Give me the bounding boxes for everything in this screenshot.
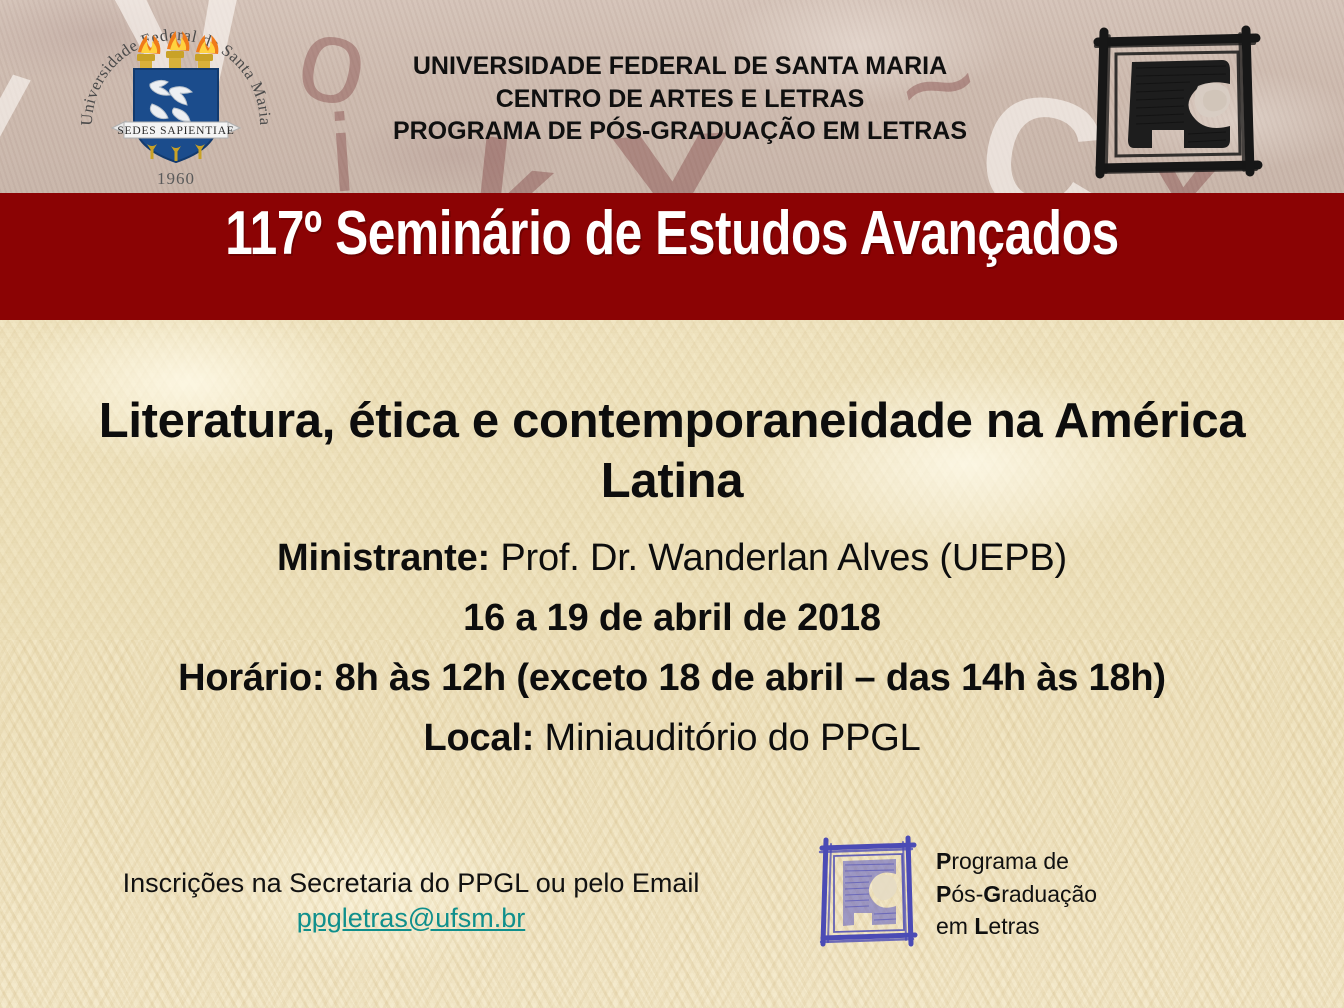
ministrante-label: Ministrante: (277, 537, 490, 579)
poster-root: V o i k X C ~ / x Universidade Federal d… (0, 0, 1344, 1008)
svg-text:1960: 1960 (157, 169, 195, 188)
svg-text:SEDES SAPIENTIAE: SEDES SAPIENTIAE (117, 125, 234, 137)
ppgl-l3-bold: L (974, 913, 988, 939)
institution-header: UNIVERSIDADE FEDERAL DE SANTA MARIA CENT… (300, 50, 1060, 148)
local-value: Miniauditório do PPGL (534, 717, 920, 759)
ppgl-l2-bold: P (936, 881, 951, 907)
ppgl-l1-bold: P (936, 848, 951, 874)
ministrante-value: Prof. Dr. Wanderlan Alves (UEPB) (490, 537, 1067, 579)
meta-line-local: Local: Miniauditório do PPGL (22, 708, 1322, 768)
ppgl-l3-rest: etras (988, 913, 1039, 939)
ppgl-l2-rest: ós- (951, 881, 983, 907)
registration-info: Inscrições na Secretaria do PPGL ou pelo… (96, 866, 726, 935)
ppgl-l2-bold2: G (983, 881, 1001, 907)
email-link[interactable]: ppgletras@ufsm.br (297, 903, 526, 933)
seminar-title: 117º Seminário de Estudos Avançados (134, 203, 1209, 265)
institution-line-3: PROGRAMA DE PÓS-GRADUAÇÃO EM LETRAS (300, 115, 1060, 148)
meta-line-schedule: Horário: 8h às 12h (exceto 18 de abril –… (22, 648, 1322, 708)
ppgl-l1-rest: rograma de (951, 848, 1069, 874)
ppgl-logo-blue-icon (812, 834, 924, 950)
ppgl-line-1: Programa de (936, 845, 1196, 878)
bg-mark-slash: / (0, 38, 42, 193)
meta-line-ministrante: Ministrante: Prof. Dr. Wanderlan Alves (… (22, 528, 1322, 588)
ppgl-line-2: Pós-Graduação (936, 878, 1196, 911)
institution-line-2: CENTRO DE ARTES E LETRAS (300, 83, 1060, 116)
meta-line-dates: 16 a 19 de abril de 2018 (22, 588, 1322, 648)
ufsm-crest-icon: Universidade Federal de Santa Maria (68, 16, 284, 194)
ppgl-l3-plain: em (936, 913, 974, 939)
institution-line-1: UNIVERSIDADE FEDERAL DE SANTA MARIA (300, 50, 1060, 83)
registration-text: Inscrições na Secretaria do PPGL ou pelo… (123, 868, 700, 898)
lecture-title: Literatura, ética e contemporaneidade na… (22, 392, 1322, 512)
ppgl-program-text: Programa de Pós-Graduação em Letras (936, 845, 1196, 943)
ppgl-l2-rest2: raduação (1001, 881, 1097, 907)
main-content: Literatura, ética e contemporaneidade na… (22, 392, 1322, 768)
ppgl-logo-black-icon (1080, 22, 1270, 182)
ppgl-line-3: em Letras (936, 910, 1196, 943)
local-label: Local: (423, 717, 534, 759)
